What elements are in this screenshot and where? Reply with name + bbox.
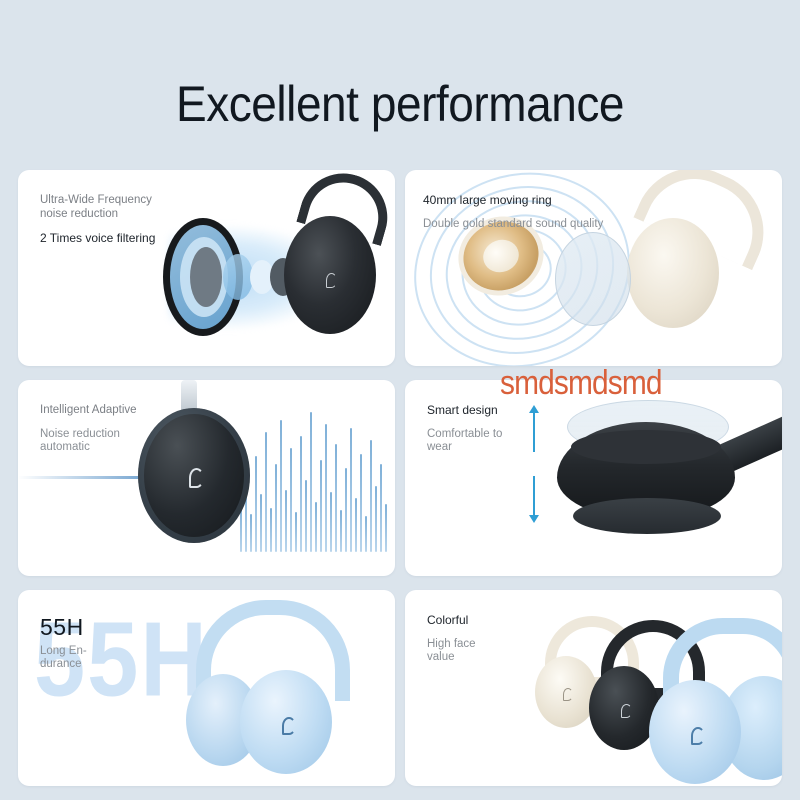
card-copy: 40mm large moving ring Double gold stand…	[423, 194, 603, 231]
card-copy: Ultra-Wide Frequency noise reduction 2 T…	[40, 194, 155, 245]
feature-card-long-endurance[interactable]: 55H 55H Long En- durance	[18, 590, 395, 786]
card-copy: Intelligent Adaptive Noise reduction aut…	[40, 404, 137, 454]
card-subheading: Comfortable to wear	[427, 428, 502, 454]
card-subheading: Noise reduction automatic	[40, 428, 137, 454]
arrow-up-icon	[533, 412, 535, 452]
product-feature-poster: Excellent performance Ultra-Wide Frequen…	[0, 0, 800, 800]
soundcore-logo-icon	[138, 408, 250, 543]
arrow-down-icon	[533, 476, 535, 516]
card-subheading: High face value	[427, 638, 476, 664]
card-subheading: Long En- durance	[40, 645, 87, 671]
page-title: Excellent performance	[32, 74, 768, 134]
feature-card-colorful[interactable]: Colorful High face value	[405, 590, 782, 786]
feature-card-moving-ring[interactable]: 40mm large moving ring Double gold stand…	[405, 170, 782, 366]
card-heading: Smart design	[427, 404, 502, 418]
card-subheading: Double gold standard sound quality	[423, 218, 603, 231]
card-heading: Colorful	[427, 614, 476, 628]
card-copy: 55H Long En- durance	[40, 614, 87, 671]
card-subheading: 2 Times voice filtering	[40, 231, 155, 245]
headphone-blue	[643, 618, 782, 783]
feature-card-intelligent-adaptive[interactable]: Intelligent Adaptive Noise reduction aut…	[18, 380, 395, 576]
waveform-bars-icon	[240, 402, 395, 552]
card-copy: Smart design Comfortable to wear	[427, 404, 502, 454]
blue-headphones	[168, 600, 358, 778]
card-copy: Colorful High face value	[427, 614, 476, 664]
card-heading: 55H	[40, 614, 87, 640]
soundcore-logo-icon	[284, 216, 376, 334]
feature-card-smart-design[interactable]: Smart design Comfortable to wear	[405, 380, 782, 576]
feature-card-grid: Ultra-Wide Frequency noise reduction 2 T…	[18, 170, 782, 786]
card-heading: 40mm large moving ring	[423, 194, 603, 208]
feature-card-noise-reduction[interactable]: Ultra-Wide Frequency noise reduction 2 T…	[18, 170, 395, 366]
card-heading: Intelligent Adaptive	[40, 404, 137, 418]
card-heading: Ultra-Wide Frequency noise reduction	[40, 194, 155, 221]
